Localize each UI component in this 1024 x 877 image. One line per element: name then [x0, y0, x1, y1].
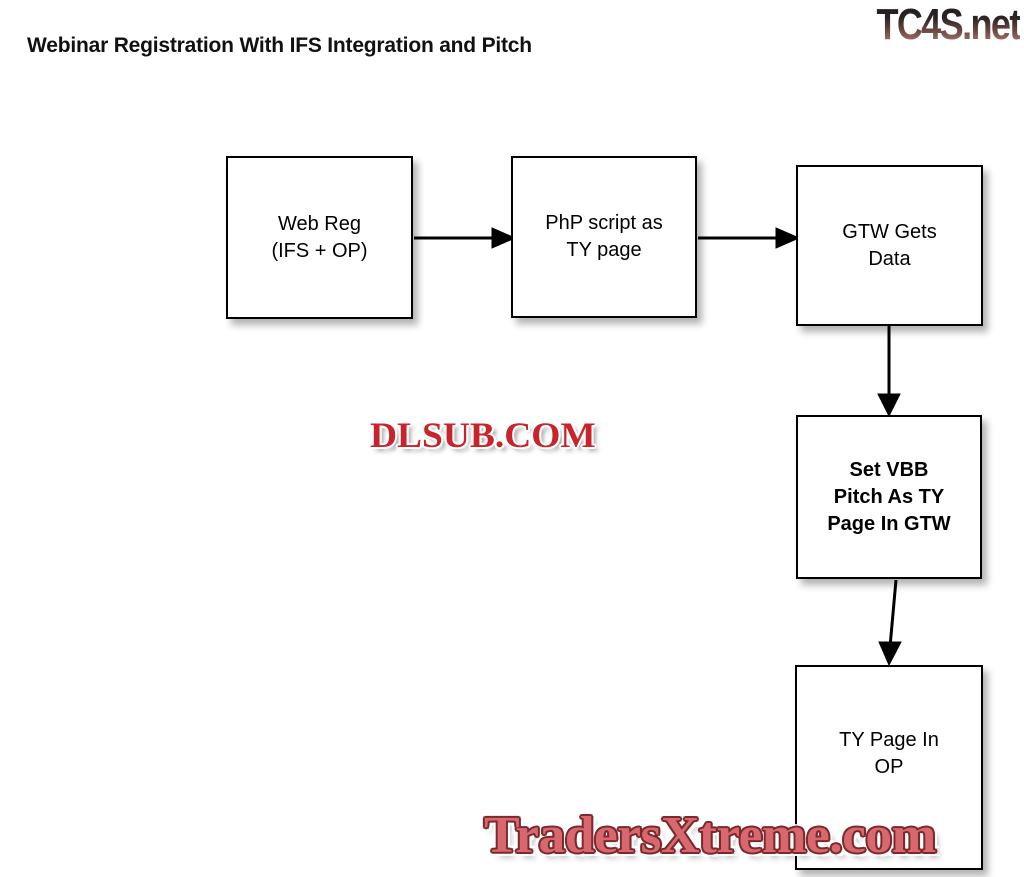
flow-node-web-reg[interactable]: Web Reg (IFS + OP) [226, 156, 413, 319]
watermark-dlsub: DLSUB.COM [370, 414, 596, 456]
flow-node-label: TY Page In OP [833, 727, 945, 781]
page-title: Webinar Registration With IFS Integratio… [27, 34, 532, 58]
connector-set-vbb-to-ty-page [879, 580, 901, 665]
brand-logo: TC4S.net [877, 3, 1020, 47]
flow-node-label: PhP script as TY page [539, 210, 668, 264]
flow-node-label: Web Reg (IFS + OP) [265, 211, 373, 265]
flow-node-label: Set VBB Pitch As TY Page In GTW [821, 457, 956, 538]
watermark-tradersxtreme: TradersXtreme.com [484, 806, 936, 865]
connector-web-reg-to-php-script [414, 228, 515, 248]
flow-node-set-vbb[interactable]: Set VBB Pitch As TY Page In GTW [796, 415, 982, 579]
flow-node-label: GTW Gets Data [836, 219, 942, 273]
connector-gtw-data-to-set-vbb [878, 326, 900, 416]
flow-node-gtw-data[interactable]: GTW Gets Data [796, 165, 983, 326]
diagram-canvas: Webinar Registration With IFS Integratio… [0, 0, 1024, 877]
flow-node-php-script[interactable]: PhP script as TY page [511, 156, 697, 318]
connector-php-script-to-gtw-data [698, 228, 799, 248]
